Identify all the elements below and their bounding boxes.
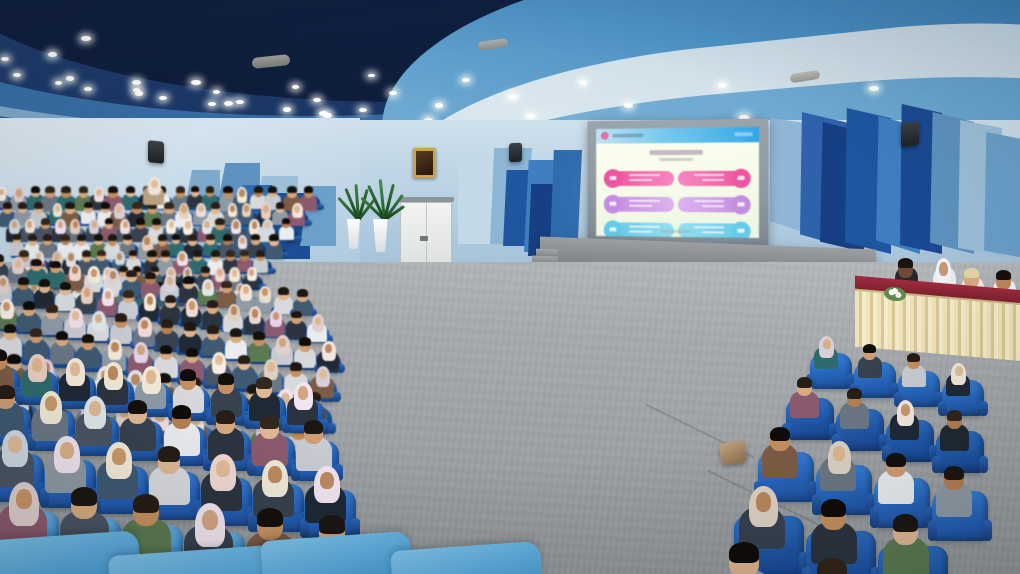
audience-person-hair — [304, 186, 313, 193]
audience-person-face — [144, 237, 150, 245]
ceiling-downlight — [13, 73, 21, 77]
audience-person-hair — [278, 287, 288, 294]
audience-person-hair — [287, 186, 296, 193]
audience-person-face — [823, 339, 831, 349]
audience-person-hair — [164, 202, 173, 209]
slide-pill-number — [737, 228, 744, 232]
auditorium-photo — [0, 0, 1020, 574]
audience-person-hair — [41, 218, 50, 224]
audience-right-section — [700, 330, 1020, 574]
audience-person-hair — [893, 514, 918, 532]
audience-person-hair — [299, 337, 311, 345]
seat-armrest — [293, 236, 302, 242]
audience-person-hair — [18, 202, 27, 208]
audience-person-hair — [260, 415, 280, 429]
ceiling-downlight — [213, 90, 220, 94]
audience-person-hair — [60, 282, 71, 290]
slide-pill-number — [737, 175, 744, 179]
audience-person-face — [45, 396, 57, 411]
audience-person-hair — [215, 218, 224, 225]
audience-person-hair — [161, 319, 173, 327]
audience-person-hair — [126, 186, 135, 192]
audience-person-hair — [126, 270, 136, 277]
audience-person-hair — [276, 202, 285, 208]
audience-person-face — [268, 466, 282, 483]
audience-person-face — [273, 312, 280, 321]
wall-panel — [984, 132, 1020, 258]
audience-person-hair — [46, 304, 58, 312]
audience-person-hair — [50, 261, 60, 268]
ceiling-downlight — [236, 100, 244, 104]
audience-person-hair — [770, 427, 790, 441]
seat-armrest — [979, 456, 988, 474]
audience-person-hair — [108, 186, 117, 193]
audience-person-hair — [94, 234, 103, 240]
audience-person-hair — [3, 202, 12, 209]
portrait-image — [416, 151, 433, 175]
audience-person-hair — [115, 313, 127, 321]
audience-person-hair — [291, 311, 302, 319]
audience-person-face — [252, 221, 258, 228]
slide-pill-text-line — [694, 173, 724, 176]
audience-person-face — [185, 221, 191, 228]
audience-person-face — [230, 205, 235, 212]
head-table-person-hair — [964, 268, 979, 278]
slide-footer — [661, 230, 691, 233]
audience-person-face — [112, 448, 126, 465]
slide-pill-text-line — [629, 204, 652, 207]
audience-person-face — [116, 205, 122, 213]
audience-person-hair — [821, 499, 846, 517]
slide-row — [604, 217, 751, 238]
audience-person-face — [189, 301, 196, 310]
audience-person-face — [15, 260, 21, 268]
audience-person-hair — [282, 218, 290, 224]
slide-header-text — [612, 133, 643, 137]
projected-slide — [596, 127, 759, 238]
audience-person-face — [239, 189, 245, 196]
audience-person-hair — [230, 328, 242, 336]
ceiling-downlight — [283, 107, 291, 112]
ceiling-downlight — [224, 101, 233, 106]
audience-person-face — [204, 221, 210, 228]
audience-person-hair — [65, 202, 74, 209]
audience-person-face — [298, 386, 308, 399]
ceiling-downlight — [66, 76, 74, 81]
head-table-person-face — [939, 262, 948, 276]
audience-person-hair — [269, 234, 278, 241]
audience-person-face — [84, 288, 91, 297]
ceiling-downlight — [135, 91, 143, 96]
audience-person-hair — [0, 385, 15, 399]
seat-armrest — [870, 507, 879, 528]
audience-person-face — [252, 309, 259, 318]
audience-person-hair — [221, 281, 231, 288]
slide-title — [649, 150, 703, 155]
slide-pill-text-line — [629, 179, 652, 182]
audience-person-hair — [43, 234, 52, 240]
audience-person-hair — [105, 218, 114, 224]
audience-person-hair — [206, 186, 215, 192]
framed-portrait — [413, 148, 436, 178]
audience-person-hair — [84, 202, 92, 208]
audience-person-hair — [145, 272, 155, 279]
audience-person-hair — [184, 322, 196, 330]
slide-pill-text-line — [702, 178, 724, 181]
ceiling-downlight — [292, 85, 299, 89]
audience-person-hair — [207, 300, 218, 308]
door-handle-icon — [420, 236, 428, 241]
audience-person-hair — [56, 331, 69, 340]
audience-person-hair — [251, 234, 259, 240]
ceiling-downlight — [508, 94, 516, 99]
audience-person-hair — [817, 558, 847, 574]
ceiling-downlight — [435, 103, 443, 108]
audience-person-hair — [13, 234, 21, 240]
audience-person-hair — [254, 186, 263, 192]
audience-person-face — [198, 205, 203, 212]
slide-pill-text-line — [702, 231, 724, 234]
ceiling-downlight — [208, 102, 216, 107]
audience-person-hair — [136, 218, 145, 224]
audience-person-hair — [253, 331, 265, 339]
audience-person-hair — [123, 234, 131, 240]
slide-pill-text-line — [694, 200, 724, 203]
audience-person-face — [8, 436, 22, 453]
ceiling-downlight — [389, 91, 397, 95]
slide-pill-text-line — [629, 174, 660, 177]
audience-person-hair — [256, 377, 273, 389]
seat-armrest — [938, 401, 947, 416]
audience-person-face — [110, 271, 116, 279]
audience-person-face — [955, 366, 963, 376]
slide-pill-text-line — [702, 205, 724, 208]
audience-person-hair — [947, 410, 963, 421]
audience-person-hair — [218, 373, 235, 385]
slide-row — [604, 166, 751, 190]
ceiling-downlight — [624, 103, 633, 108]
audience-person-hair — [165, 295, 176, 303]
audience-person-hair — [31, 186, 40, 192]
audience-person-hair — [268, 186, 277, 192]
audience-person-hair — [172, 405, 192, 419]
audience-person-hair — [108, 234, 117, 241]
wall-speaker-icon — [509, 143, 522, 163]
audience-person-hair — [158, 234, 167, 241]
audience-person-face — [233, 221, 239, 228]
audience-near-section — [0, 350, 560, 574]
audience-person-face — [202, 510, 218, 530]
audience-person-face — [58, 221, 64, 228]
wall-speaker-icon — [901, 121, 919, 147]
ceiling-downlight — [132, 80, 141, 85]
slide-pill-number — [610, 176, 617, 180]
audience-person-face — [146, 370, 156, 383]
seat-armrest — [983, 520, 992, 541]
audience-person-face — [73, 221, 78, 228]
ceiling-downlight — [718, 83, 727, 88]
ceiling-downlight — [55, 81, 62, 85]
audience-person-face — [89, 401, 101, 416]
audience-person-hair — [31, 259, 41, 266]
audience-person-hair — [191, 186, 199, 192]
audience-person-hair — [39, 279, 50, 287]
slide-pill-text-line — [694, 226, 724, 229]
floor-bag — [719, 440, 748, 465]
audience-person-hair — [207, 325, 219, 333]
audience-person-hair — [132, 202, 141, 209]
audience-person-face — [833, 446, 845, 461]
slide-subtitle — [659, 158, 693, 161]
audience-person-hair — [319, 515, 345, 534]
potted-palm — [369, 172, 397, 220]
potted-palm — [344, 176, 370, 220]
wall-panel — [550, 150, 582, 250]
audience-person-hair — [180, 369, 197, 381]
audience-person-hair — [158, 446, 180, 462]
projection-screen — [588, 119, 769, 250]
slide-pill-right — [676, 168, 751, 187]
audience-person-hair — [216, 410, 236, 424]
audience-person-hair — [257, 508, 283, 527]
slide-pill-right — [676, 195, 751, 215]
audience-person-hair — [188, 234, 197, 241]
audience-person-hair — [61, 234, 70, 240]
audience-person-hair — [847, 388, 863, 399]
audience-person-face — [263, 205, 269, 212]
audience-person-hair — [176, 186, 185, 193]
audience-person-face — [60, 442, 74, 459]
audience-person-face — [244, 205, 249, 212]
seat-armrest — [812, 494, 821, 515]
audience-person-face — [756, 492, 771, 511]
head-table-person-hair — [898, 258, 913, 268]
slide-pill-text-line — [629, 230, 652, 233]
audience-person-face — [27, 221, 32, 228]
seat-armrest — [979, 401, 988, 416]
audience-person-face — [151, 180, 158, 189]
audience-person-face — [169, 221, 174, 228]
audience-person-hair — [729, 542, 759, 563]
slide-pill-number — [610, 201, 617, 205]
slide-logo-icon — [601, 132, 609, 140]
audience-person-face — [216, 460, 230, 477]
audience-person-hair — [152, 218, 161, 225]
audience-person-face — [123, 221, 128, 228]
audience-person-hair — [4, 324, 17, 333]
slide-pill-text-line — [629, 199, 660, 202]
audience-person-hair — [886, 453, 906, 467]
audience-person-hair — [183, 276, 193, 283]
audience-person-face — [92, 221, 97, 228]
audience-person-hair — [18, 277, 29, 285]
audience-person-face — [70, 362, 80, 375]
wall-speaker-icon — [148, 140, 164, 164]
slide-pill-number — [610, 227, 617, 231]
audience-person-face — [181, 205, 187, 212]
audience-person-hair — [45, 186, 55, 193]
audience-person-face — [294, 205, 300, 212]
slide-pill-left — [604, 169, 676, 188]
audience-person-face — [91, 269, 97, 277]
foreground-seat-back[interactable] — [390, 541, 544, 574]
audience-person-hair — [211, 202, 220, 209]
audience-person-hair — [123, 290, 134, 298]
audience-person-hair — [71, 487, 97, 506]
audience-person-hair — [0, 349, 7, 361]
audience-person-face — [265, 221, 271, 228]
slide-header-right-text — [734, 132, 752, 136]
audience-person-face — [205, 282, 211, 290]
audience-person-face — [16, 189, 22, 196]
audience-person-face — [108, 366, 118, 379]
audience-person-hair — [206, 234, 214, 240]
audience-person-hair — [34, 202, 43, 209]
audience-person-hair — [863, 344, 876, 353]
audience-person-face — [32, 358, 42, 371]
audience-person-hair — [223, 186, 232, 193]
audience-person-hair — [797, 377, 813, 388]
audience-person-hair — [907, 353, 920, 362]
slide-row — [604, 192, 751, 217]
audience-person-face — [55, 205, 60, 212]
audience-person-hair — [101, 202, 110, 208]
slide-header-band — [596, 127, 759, 144]
head-table-person-hair — [996, 270, 1011, 280]
audience-person-hair — [23, 301, 35, 309]
audience-person-hair — [223, 234, 232, 240]
audience-person-face — [16, 489, 32, 509]
audience-person-hair — [28, 234, 37, 241]
audience-person-hair — [61, 186, 70, 193]
slide-pill-number — [737, 202, 744, 206]
audience-person-face — [320, 472, 334, 489]
audience-person-hair — [944, 466, 964, 480]
seat-armrest — [928, 520, 937, 541]
audience-person-face — [231, 306, 238, 315]
audience-person-hair — [297, 289, 307, 296]
ceiling-downlight — [579, 80, 587, 85]
slide-pill-left — [604, 194, 676, 213]
audience-person-hair — [304, 420, 324, 434]
audience-person-face — [901, 404, 911, 416]
audience-person-hair — [0, 254, 4, 261]
audience-person-hair — [128, 400, 148, 414]
seat-armrest — [932, 456, 941, 474]
seat-armrest — [802, 567, 811, 574]
audience-person-hair — [82, 334, 95, 343]
slide-pill-text-line — [629, 225, 660, 228]
audience-person-face — [147, 296, 154, 305]
audience-person-face — [240, 237, 245, 243]
audience-person-face — [96, 189, 102, 196]
audience-person-hair — [172, 234, 180, 240]
audience-person-hair — [79, 186, 88, 193]
audience-person-hair — [30, 328, 43, 337]
audience-person-hair — [133, 494, 159, 513]
audience-person-hair — [77, 234, 87, 241]
